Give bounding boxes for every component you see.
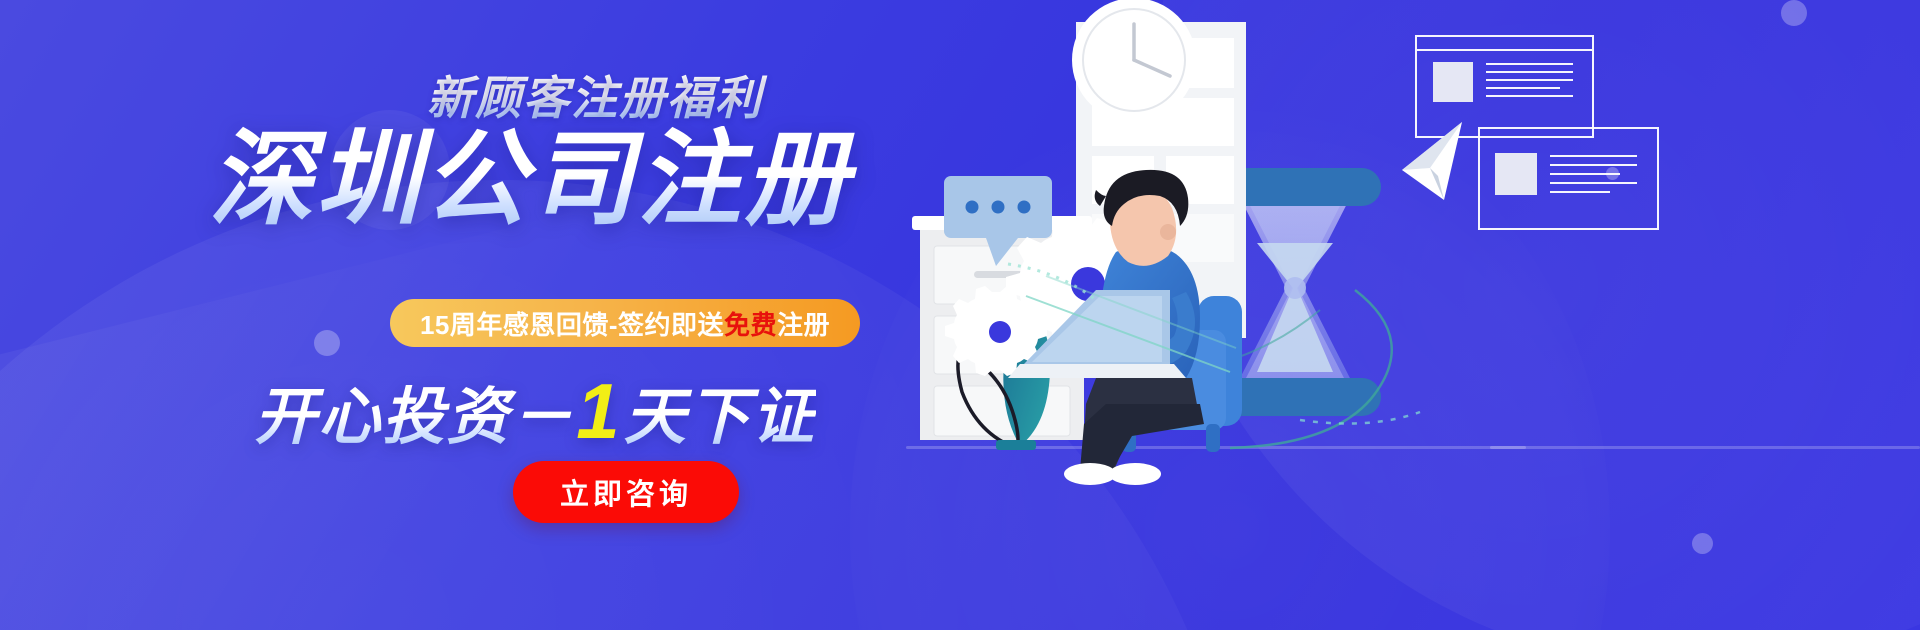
consult-now-label: 立即咨询 bbox=[560, 471, 692, 513]
person-shoe bbox=[1109, 463, 1161, 485]
eyebrow-text: 新顾客注册福利 bbox=[65, 62, 1125, 128]
document-card-bottom bbox=[1479, 128, 1658, 229]
subheadline: 开心投资－1天下证 bbox=[5, 366, 1065, 457]
promo-badge: 15周年感恩回馈-签约即送免费注册 bbox=[390, 299, 860, 347]
promo-prefix: 15周年感恩回馈-签约即送 bbox=[420, 305, 724, 342]
document-card-top bbox=[1416, 36, 1593, 137]
banner-copy: 新顾客注册福利 深圳公司注册 15周年感恩回馈-签约即送免费注册 开心投资－1天… bbox=[0, 0, 1060, 630]
paper-plane-icon bbox=[1402, 122, 1462, 200]
promo-suffix: 注册 bbox=[777, 305, 830, 342]
ground-line-right bbox=[1490, 446, 1920, 449]
subheadline-number: 1 bbox=[574, 367, 623, 455]
page-title: 深圳公司注册 bbox=[0, 126, 1060, 235]
chair-leg bbox=[1206, 424, 1220, 452]
subheadline-after: 天下证 bbox=[624, 383, 816, 452]
person-shoe bbox=[1064, 463, 1116, 485]
subheadline-before: 开心投资－ bbox=[254, 383, 574, 452]
promo-highlight: 免费 bbox=[724, 305, 777, 342]
consult-now-button[interactable]: 立即咨询 bbox=[513, 461, 739, 523]
promo-banner: 新顾客注册福利 深圳公司注册 15周年感恩回馈-签约即送免费注册 开心投资－1天… bbox=[0, 0, 1920, 630]
